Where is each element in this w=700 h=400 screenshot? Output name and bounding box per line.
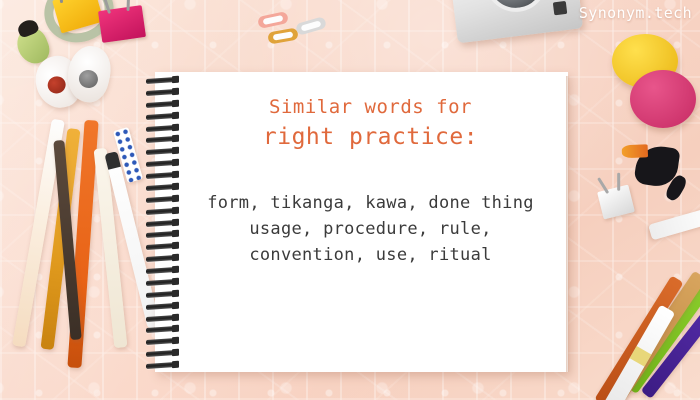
spiral-coil — [146, 231, 176, 238]
spiral-coil — [146, 326, 176, 333]
notepad-page-edge — [566, 76, 570, 372]
synonym-line: form, tikanga, kawa, done thing — [178, 190, 563, 216]
spiral-coil — [146, 184, 176, 191]
spiral-coil — [146, 279, 176, 286]
synonym-list: form, tikanga, kawa, done thing usage, p… — [178, 190, 563, 268]
spiral-coil — [146, 89, 176, 96]
search-term-heading: right practice: — [178, 124, 563, 150]
spiral-coil — [146, 303, 176, 310]
spiral-coil — [146, 136, 176, 143]
brand-watermark: Synonym.tech — [579, 4, 692, 22]
spiral-coil — [146, 362, 176, 369]
synonym-line: usage, procedure, rule, — [178, 216, 563, 242]
spiral-coil — [146, 350, 176, 357]
notepad-content: Similar words for right practice: form, … — [178, 72, 563, 268]
spiral-coil — [146, 208, 176, 215]
binder-clip-pink-icon — [98, 5, 146, 43]
spiral-coil — [146, 314, 176, 321]
spiral-binding — [144, 74, 178, 372]
macaron-pink-icon — [630, 70, 696, 128]
spiral-coil — [146, 172, 176, 179]
spiral-coil — [146, 113, 176, 120]
screenshot-root: Similar words for right practice: form, … — [0, 0, 700, 400]
toucan-figurine-icon — [633, 143, 680, 188]
similar-words-label: Similar words for — [178, 96, 563, 118]
spiral-coil — [146, 148, 176, 155]
spiral-coil — [146, 196, 176, 203]
spiral-coil — [146, 101, 176, 108]
spiral-coil — [146, 255, 176, 262]
spiral-coil — [146, 338, 176, 345]
spiral-coil — [146, 77, 176, 84]
spiral-coil — [146, 219, 176, 226]
spiral-coil — [146, 291, 176, 298]
spiral-coil — [146, 160, 176, 167]
spiral-coil — [146, 124, 176, 131]
spiral-coil — [146, 243, 176, 250]
spiral-coil — [146, 267, 176, 274]
synonym-line: convention, use, ritual — [178, 242, 563, 268]
